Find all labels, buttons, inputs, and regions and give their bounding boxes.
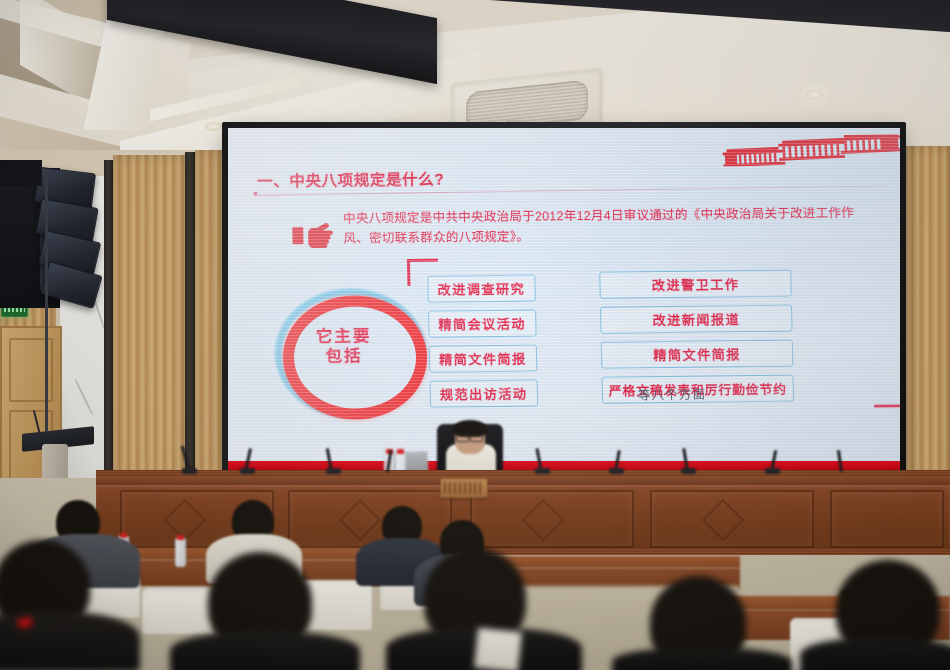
collar-front-3	[474, 628, 522, 670]
tiananmen-balustrade-graphic	[720, 134, 900, 166]
microphone-base-2	[240, 468, 255, 474]
circle-label-line-1: 它主要	[316, 326, 372, 347]
nameplate	[440, 478, 488, 498]
microphone-base-6	[609, 468, 624, 474]
audience-desk-top-2	[480, 556, 740, 568]
list-item: 精简文件简报	[429, 344, 537, 373]
circle-label: 它主要 包括	[282, 295, 406, 398]
list-item: 规范出访活动	[430, 379, 538, 408]
list-item: 改进新闻报道	[600, 304, 793, 334]
chair-cover-2	[142, 588, 214, 634]
microphone-base-5	[535, 468, 550, 474]
conference-room-photo: 一、中央八项规定是什么?	[0, 0, 950, 670]
speaker-pole	[45, 170, 48, 432]
podium-panel-5	[830, 490, 944, 548]
wall-reveal-1	[104, 160, 113, 508]
microphone-base-1	[182, 468, 197, 474]
downlight-1	[205, 122, 222, 131]
audience-shoulders-front-4	[612, 648, 792, 670]
wood-slat-panel-4	[906, 146, 950, 482]
list-item: 精简会议活动	[428, 309, 536, 338]
list-item: 改进警卫工作	[599, 270, 792, 300]
right-item-column: 改进警卫工作 改进新闻报道 精简文件简报 严格文稿发表和厉行勤俭节约	[599, 270, 794, 404]
presenter-glasses-left	[456, 434, 469, 442]
slide-title: 一、中央八项规定是什么?	[257, 168, 445, 192]
pointing-hand-icon	[292, 219, 337, 251]
microphone-base-7	[681, 468, 696, 474]
presenter-glasses-right	[470, 434, 483, 442]
list-item: 精简文件简报	[601, 339, 794, 369]
downlight-5	[806, 90, 823, 99]
water-bottle	[175, 538, 186, 567]
podium-top-rib	[96, 470, 950, 477]
microphone-base-3	[326, 468, 341, 474]
wood-slat-panel-2	[113, 155, 185, 508]
slide-paragraph: 中央八项规定是中共中央政治局于2012年12月4日审议通过的《中央政治局关于改进…	[343, 203, 864, 250]
circle-badge: 它主要 包括	[272, 288, 417, 408]
audience-shoulders-front-5	[800, 638, 950, 670]
wall-reveal-2	[185, 152, 195, 508]
presentation-slide: 一、中央八项规定是什么?	[228, 128, 900, 473]
left-item-column: 改进调查研究 精简会议活动 精简文件简报 规范出访活动	[427, 275, 537, 408]
podium-table-top	[96, 477, 950, 485]
microphone-base-8	[765, 468, 780, 474]
corner-bracket-bottom-right	[874, 380, 900, 407]
led-screen[interactable]: 一、中央八项规定是什么?	[228, 128, 900, 473]
audience-shoulders-front-2	[170, 632, 360, 670]
list-item: 改进调查研究	[427, 275, 535, 304]
speaker-bracket	[0, 160, 42, 186]
circle-label-line-2: 包括	[325, 346, 362, 367]
slide-footnote: 等八个方面	[638, 385, 707, 404]
